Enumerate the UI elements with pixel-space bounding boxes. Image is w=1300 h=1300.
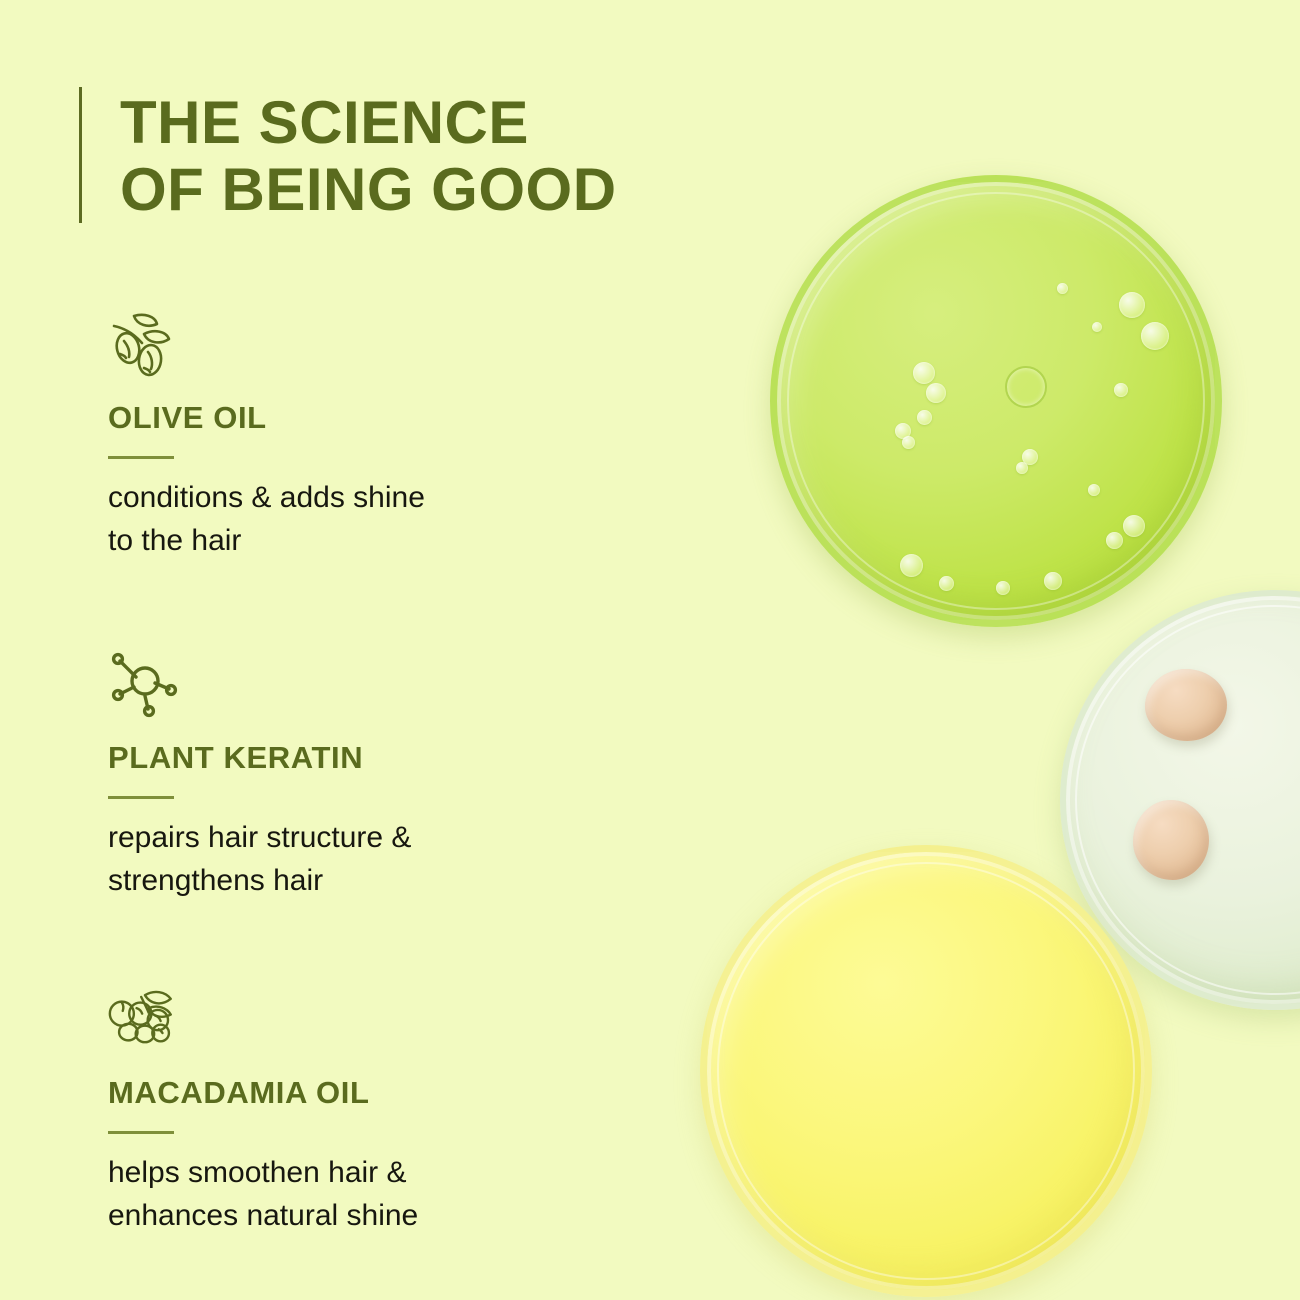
ingredient-name: MACADAMIA OIL xyxy=(108,1075,628,1111)
ingredient-divider xyxy=(108,796,174,799)
oil-bubble xyxy=(996,581,1010,595)
ingredient-divider xyxy=(108,1131,174,1134)
oil-bubble xyxy=(1092,322,1102,332)
macadamia-nuts-icon xyxy=(108,985,628,1057)
cream-keratin-petri-dish xyxy=(1060,590,1300,1010)
ingredient-description: conditions & adds shine to the hair xyxy=(108,477,628,562)
ingredient-name: PLANT KERATIN xyxy=(108,740,628,776)
macadamia-nut xyxy=(1133,800,1209,880)
oil-bubble xyxy=(1005,366,1047,408)
ingredient-description: helps smoothen hair & enhances natural s… xyxy=(108,1152,628,1237)
yellow-macadamia-oil-petri-dish xyxy=(700,845,1152,1297)
page-title-block: THE SCIENCE OF BEING GOOD xyxy=(79,87,617,223)
oil-bubble xyxy=(1106,532,1123,549)
oil-bubble xyxy=(900,554,923,577)
oil-bubble xyxy=(1057,283,1068,294)
ingredient-divider xyxy=(108,456,174,459)
oil-bubble xyxy=(1044,572,1062,590)
olive-branch-icon xyxy=(108,310,628,382)
ingredient-macadamia-oil: MACADAMIA OIL helps smoothen hair & enha… xyxy=(108,985,628,1237)
green-olive-oil-petri-dish xyxy=(770,175,1222,627)
molecule-icon xyxy=(108,650,628,722)
ingredient-name: OLIVE OIL xyxy=(108,400,628,436)
page-title: THE SCIENCE OF BEING GOOD xyxy=(120,87,617,223)
oil-bubble xyxy=(1022,449,1038,465)
ingredient-plant-keratin: PLANT KERATIN repairs hair structure & s… xyxy=(108,650,628,902)
macadamia-nut xyxy=(1145,669,1227,741)
oil-bubble xyxy=(939,576,954,591)
oil-bubble xyxy=(902,436,915,449)
oil-bubble xyxy=(1123,515,1145,537)
oil-bubble xyxy=(1114,383,1128,397)
oil-bubble xyxy=(917,410,932,425)
oil-bubble xyxy=(913,362,935,384)
oil-bubble xyxy=(1088,484,1100,496)
oil-bubble xyxy=(1119,292,1145,318)
oil-bubble xyxy=(1016,462,1028,474)
ingredient-olive-oil: OLIVE OIL conditions & adds shine to the… xyxy=(108,310,628,562)
oil-bubble xyxy=(926,383,946,403)
oil-bubble xyxy=(1141,322,1169,350)
oil-bubble xyxy=(895,423,911,439)
title-accent-rule xyxy=(79,87,82,223)
ingredient-description: repairs hair structure & strengthens hai… xyxy=(108,817,628,902)
